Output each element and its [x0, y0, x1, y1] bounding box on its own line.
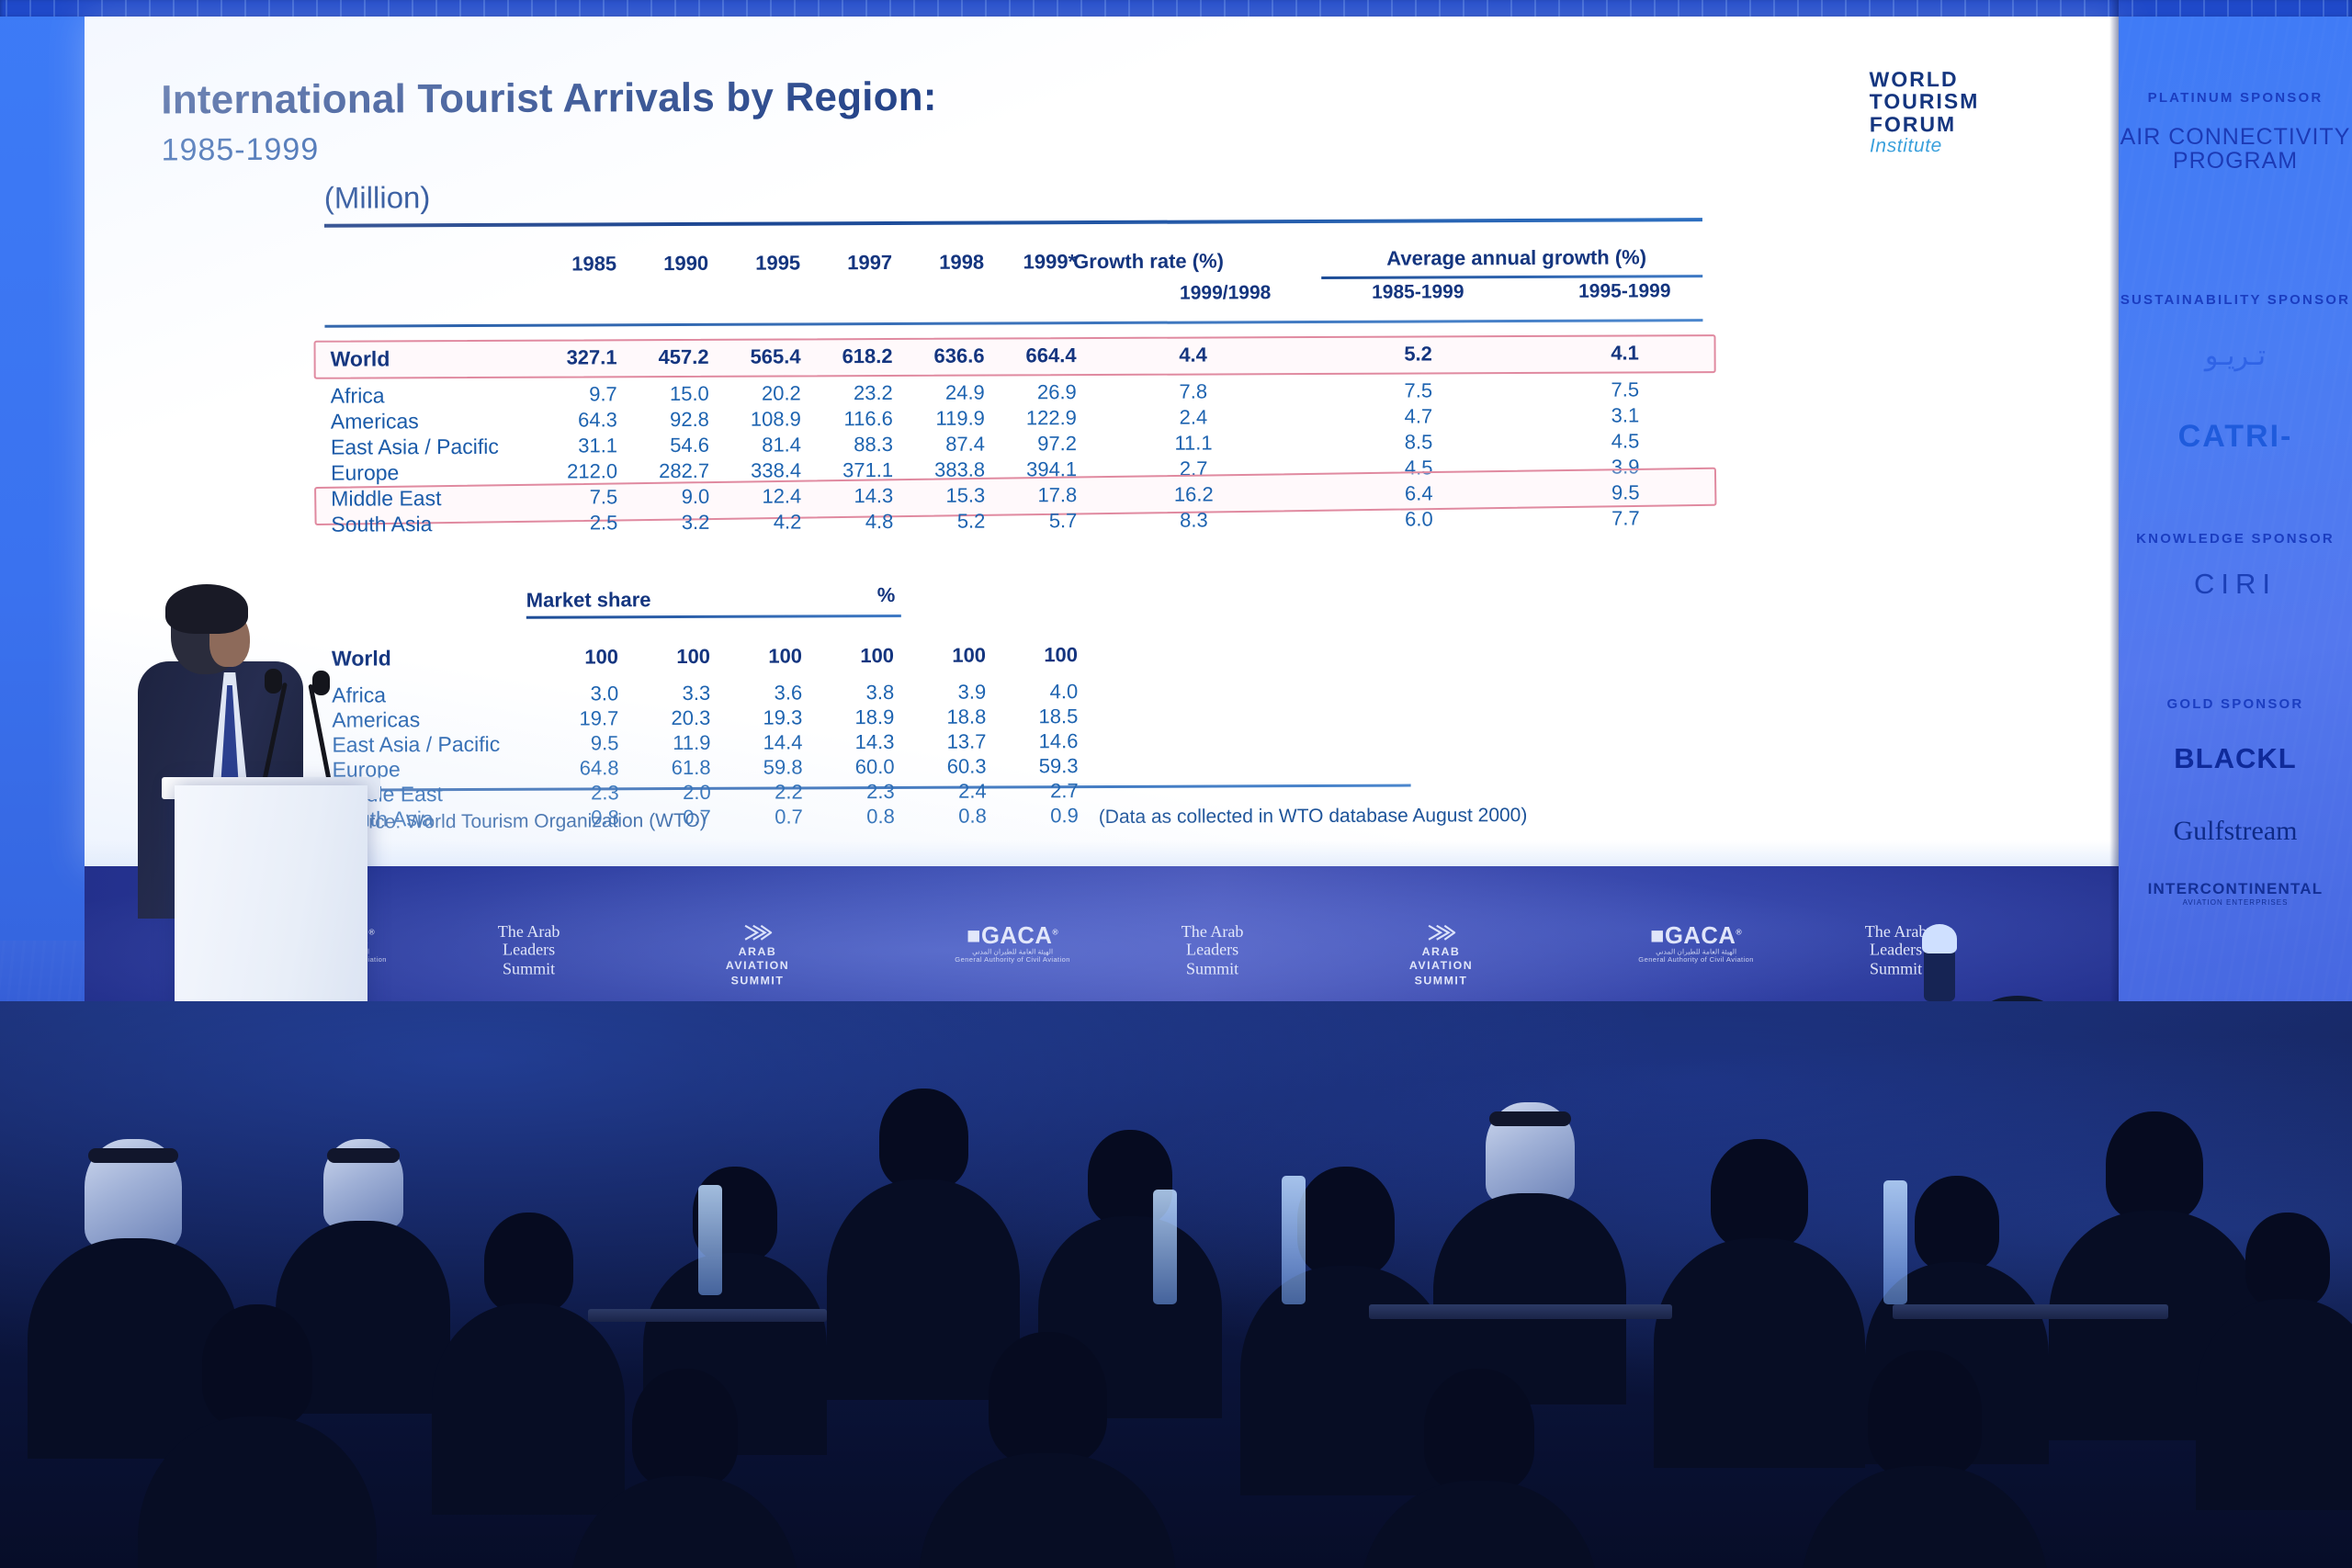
logo-line-1: WORLD — [1870, 68, 1980, 91]
audience-head — [632, 1369, 738, 1487]
column-header-growth-period: 1999/1998 — [1073, 282, 1271, 305]
market-share-cell: 100 — [719, 644, 802, 668]
market-share-cell: 14.6 — [995, 729, 1078, 753]
cell-value: 54.6 — [627, 434, 709, 457]
cell-value: 31.1 — [535, 434, 617, 457]
sponsor-logo: INTERCONTINENTALAVIATION ENTERPRISES — [2119, 880, 2352, 907]
audience-head — [2106, 1111, 2203, 1221]
cell-value: 5.7 — [994, 509, 1077, 533]
audience-head — [1424, 1369, 1534, 1492]
audience-table-edge — [1369, 1304, 1672, 1319]
table-rule-top — [324, 218, 1702, 228]
market-share-cell: 4.0 — [995, 680, 1078, 704]
market-share-cell: 18.5 — [995, 705, 1078, 728]
column-header-year: 1998 — [901, 251, 984, 275]
microphone-head-right — [312, 671, 330, 695]
cell-growth: 11.1 — [1115, 431, 1272, 456]
world-tourism-forum-institute-logo: WORLD TOURISM FORUM Institute — [1870, 68, 1980, 157]
cell-avg-8599: 8.5 — [1340, 430, 1497, 455]
data-table: 198519901995199719981999*Growth rate (%)… — [324, 218, 1702, 224]
audience-head — [2245, 1213, 2330, 1307]
sponsor-subname: AVIATION ENTERPRISES — [2119, 898, 2352, 907]
audience-shoulders — [827, 1179, 1020, 1400]
table-header-row: 198519901995199719981999*Growth rate (%)… — [324, 234, 1702, 314]
sponsor-name: AIR CONNECTIVITY PROGRAM — [2120, 124, 2351, 174]
cell-value: 282.7 — [627, 459, 709, 483]
market-share-cell: 3.3 — [628, 682, 710, 705]
cell-growth: 16.2 — [1115, 482, 1272, 507]
cell-value: 88.3 — [810, 433, 893, 457]
market-share-cell: 14.3 — [811, 730, 894, 754]
market-share-cell: 0.7 — [720, 805, 803, 829]
column-header-avg-period: 1995-1999 — [1546, 280, 1702, 303]
cell-value: 12.4 — [718, 484, 801, 508]
audience-area — [0, 1001, 2352, 1568]
cell-value: 664.4 — [994, 344, 1077, 367]
cell-growth: 4.4 — [1115, 343, 1272, 367]
sponsor-logo: CATRI- — [2119, 419, 2352, 455]
sponsor-logo: Gulfstream — [2119, 816, 2352, 847]
column-header-year: 1985 — [534, 252, 616, 276]
column-header-year: 1990 — [626, 252, 708, 276]
cell-value: 122.9 — [994, 406, 1077, 430]
market-share-cell: 9.5 — [536, 731, 618, 755]
cell-value: 17.8 — [994, 483, 1077, 507]
cell-value: 15.0 — [627, 382, 709, 406]
backdrop-arab-aviation-summit-logo: ARABAVIATIONSUMMIT — [1409, 923, 1473, 987]
cell-growth: 7.8 — [1115, 379, 1272, 404]
market-share-cell: 18.9 — [811, 705, 894, 729]
market-share-row-label: Americas — [332, 707, 420, 732]
cell-value: 457.2 — [627, 345, 709, 369]
market-share-label: Market share — [526, 588, 651, 613]
cell-avg-8599: 6.4 — [1340, 481, 1497, 506]
market-share-row-label: World — [332, 646, 391, 671]
column-header-growth: Growth rate (%) — [1073, 249, 1271, 274]
cell-value: 5.2 — [902, 510, 985, 534]
source-note: Source: World Tourism Organization (WTO) — [334, 810, 707, 834]
logo-line-4: Institute — [1870, 136, 1980, 157]
cell-value: 119.9 — [902, 407, 985, 431]
audience-shoulders — [2196, 1299, 2352, 1510]
backdrop-arab-leaders-summit-logo: The ArabLeadersSummit — [1182, 923, 1244, 979]
audience-shoulders — [1654, 1238, 1865, 1468]
cell-value: 212.0 — [535, 459, 617, 483]
cell-value: 3.2 — [627, 511, 709, 535]
cell-value: 116.6 — [810, 407, 893, 431]
market-share-row-label: Africa — [332, 682, 386, 707]
sponsor-board: PLATINUM SPONSORAIR CONNECTIVITY PROGRAM… — [2119, 17, 2352, 1036]
water-bottle — [698, 1185, 722, 1295]
sponsor-tier-label: KNOWLEDGE SPONSOR — [2119, 531, 2352, 547]
cell-avg-9599: 4.5 — [1547, 429, 1703, 454]
market-share-cell: 100 — [536, 645, 618, 669]
market-share-cell: 0.8 — [812, 805, 895, 829]
cell-value: 64.3 — [535, 408, 617, 432]
cell-avg-9599: 4.1 — [1547, 341, 1703, 366]
backdrop-arab-aviation-summit-logo: ARABAVIATIONSUMMIT — [726, 923, 789, 987]
table-rule-header — [324, 319, 1702, 328]
column-header-avg-period: 1985-1999 — [1340, 281, 1496, 304]
market-share-cell: 61.8 — [628, 756, 710, 780]
cell-avg-8599: 5.2 — [1340, 342, 1497, 367]
cell-value: 4.8 — [810, 510, 893, 534]
market-share-cell: 2.2 — [720, 780, 803, 804]
audience-shoulders — [1240, 1266, 1452, 1495]
cell-value: 108.9 — [718, 407, 801, 431]
market-share-cell: 59.3 — [995, 754, 1078, 778]
backdrop-arab-leaders-summit-logo: The ArabLeadersSummit — [498, 923, 560, 979]
cell-value: 87.4 — [902, 433, 985, 457]
market-share-cell: 0.9 — [996, 804, 1079, 828]
audience-head — [1711, 1139, 1808, 1248]
sponsor-name: INTERCONTINENTALAVIATION ENTERPRISES — [2119, 880, 2352, 907]
row-label: Europe — [331, 460, 399, 485]
market-share-cell: 3.0 — [536, 682, 618, 705]
market-share-cell: 2.3 — [537, 781, 619, 805]
cell-value: 636.6 — [902, 344, 985, 368]
cell-value: 14.3 — [810, 484, 893, 508]
sponsor-tier-label: GOLD SPONSOR — [2119, 696, 2352, 712]
logo-line-2: TOURISM — [1870, 90, 1980, 113]
cell-value: 81.4 — [718, 433, 801, 457]
row-label: East Asia / Pacific — [331, 434, 499, 460]
cell-value: 327.1 — [535, 345, 617, 369]
audience-head — [1915, 1176, 1999, 1270]
cell-avg-8599: 4.7 — [1340, 404, 1497, 429]
market-share-cell: 19.3 — [719, 705, 802, 729]
row-label: Middle East — [331, 486, 441, 512]
cell-avg-8599: 6.0 — [1340, 507, 1497, 532]
water-bottle — [1282, 1176, 1306, 1304]
audience-shoulders — [432, 1303, 625, 1515]
backdrop-gaca-logo: ■GACA®الهيئة العامة للطيران المدنيGenera… — [955, 922, 1070, 964]
sponsor-name: Gulfstream — [2174, 816, 2298, 846]
column-header-avg-growth: Average annual growth (%) — [1330, 245, 1702, 271]
audience-head — [484, 1213, 573, 1313]
cell-value: 9.0 — [627, 485, 709, 509]
market-share-cell: 2.7 — [996, 779, 1079, 803]
audience-headband — [1489, 1111, 1571, 1126]
market-share-cell: 60.0 — [811, 755, 894, 779]
cell-value: 26.9 — [994, 380, 1077, 404]
market-share-cell: 100 — [628, 645, 710, 669]
market-share-cell: 3.9 — [903, 681, 986, 705]
row-label: South Asia — [331, 512, 432, 536]
market-share-cell: 100 — [811, 644, 894, 668]
market-share-rule — [526, 615, 901, 619]
slide-content: International Tourist Arrivals by Region… — [83, 12, 2120, 871]
camera-flash — [1924, 948, 1955, 1001]
audience-headband — [88, 1148, 178, 1163]
cell-value: 20.2 — [718, 381, 801, 405]
cell-value: 4.2 — [718, 510, 801, 534]
column-header-year: 1997 — [809, 251, 892, 275]
sponsor-name: CIRI — [2194, 568, 2277, 600]
column-header-year: 1995 — [718, 251, 800, 275]
water-bottle — [1153, 1190, 1177, 1304]
market-share-cell: 2.3 — [812, 780, 895, 804]
audience-head — [879, 1089, 968, 1189]
market-share-cell: 59.8 — [719, 755, 802, 779]
cell-avg-8599: 7.5 — [1340, 378, 1497, 403]
market-share-unit: % — [877, 583, 896, 607]
cell-avg-9599: 7.5 — [1547, 378, 1703, 402]
market-share-cell: 11.9 — [628, 731, 710, 755]
cell-value: 24.9 — [902, 381, 985, 405]
sponsor-logo: CIRI — [2119, 568, 2352, 601]
cell-growth: 2.4 — [1115, 405, 1272, 430]
cell-value: 2.5 — [535, 511, 617, 535]
data-collected-note: (Data as collected in WTO database Augus… — [1099, 805, 1528, 829]
left-wall-panel — [0, 17, 85, 941]
cell-avg-9599: 7.7 — [1547, 506, 1703, 531]
cell-value: 97.2 — [994, 432, 1077, 456]
market-share-cell: 100 — [903, 644, 986, 668]
market-share-cell: 3.6 — [719, 681, 802, 705]
cell-value: 618.2 — [810, 344, 893, 368]
conference-photo: International Tourist Arrivals by Region… — [0, 0, 2352, 1568]
audience-table-edge — [1893, 1304, 2168, 1319]
cell-avg-9599: 9.5 — [1547, 480, 1703, 505]
audience-headband — [327, 1148, 400, 1163]
speaker-hair — [165, 584, 248, 634]
market-share-cell: 3.8 — [811, 681, 894, 705]
cell-value: 565.4 — [718, 344, 801, 368]
market-share-row-label: East Asia / Pacific — [332, 732, 500, 758]
market-share-cell: 100 — [995, 643, 1078, 667]
cell-value: 23.2 — [810, 381, 893, 405]
sponsor-tier-label: PLATINUM SPONSOR — [2119, 90, 2352, 106]
market-share-cell: 2.0 — [628, 781, 711, 805]
column-header-avg-rule — [1321, 275, 1702, 279]
sponsor-name: BLACKL — [2174, 742, 2296, 774]
market-share-cell: 2.4 — [904, 780, 987, 804]
audience-head — [202, 1304, 312, 1427]
sponsor-logo: BLACKL — [2119, 742, 2352, 775]
page-title: International Tourist Arrivals by Region… — [161, 74, 937, 124]
page-subtitle: 1985-1999 — [162, 132, 320, 169]
market-share-cell: 14.4 — [719, 730, 802, 754]
sponsor-name: CATRI- — [2178, 419, 2293, 454]
market-share-cell: 20.3 — [628, 706, 710, 730]
backdrop-arab-leaders-summit-logo: The ArabLeadersSummit — [1865, 923, 1928, 979]
logo-line-3: FORUM — [1870, 113, 1980, 136]
projection-screen: International Tourist Arrivals by Region… — [85, 17, 2119, 866]
cell-avg-9599: 3.1 — [1547, 403, 1703, 428]
cell-value: 15.3 — [902, 484, 985, 508]
market-share-cell: 19.7 — [536, 706, 618, 730]
water-bottle — [1883, 1180, 1907, 1304]
market-share-cell: 18.8 — [903, 705, 986, 729]
cell-value: 9.7 — [535, 382, 617, 406]
market-share-cell: 64.8 — [536, 756, 618, 780]
row-label: Africa — [331, 383, 385, 408]
market-share-cell: 0.8 — [904, 805, 987, 829]
market-share-cell: 60.3 — [903, 755, 986, 779]
backdrop-gaca-logo: ■GACA®الهيئة العامة للطيران المدنيGenera… — [1638, 922, 1754, 964]
audience-head — [1297, 1167, 1395, 1276]
unit-label: (Million) — [324, 180, 431, 216]
market-share-cell: 13.7 — [903, 730, 986, 754]
sponsor-tier-label: SUSTAINABILITY SPONSOR — [2119, 292, 2352, 308]
camera-flash-diffuser — [1922, 924, 1957, 953]
cell-growth: 8.3 — [1115, 508, 1272, 533]
cell-value: 7.5 — [535, 485, 617, 509]
column-header-year: 1999* — [993, 250, 1076, 274]
audience-table-edge — [588, 1309, 827, 1322]
audience-head — [1868, 1350, 1982, 1478]
sponsor-name: تـريـو — [2205, 341, 2266, 371]
sponsor-logo: تـريـو — [2119, 340, 2352, 372]
screen-bottom-shadow — [85, 840, 2119, 866]
sponsor-logo: AIR CONNECTIVITY PROGRAM — [2119, 125, 2352, 174]
row-label: World — [331, 346, 390, 371]
microphone-head-left — [265, 669, 282, 694]
row-label: Americas — [331, 409, 419, 434]
cell-value: 92.8 — [627, 408, 709, 432]
audience-head — [989, 1332, 1107, 1464]
